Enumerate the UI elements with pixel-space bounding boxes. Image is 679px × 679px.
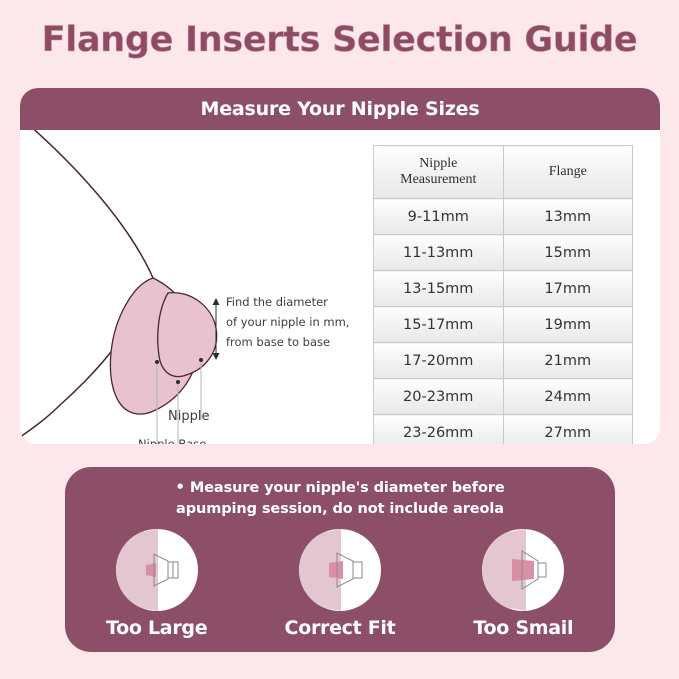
fit-note-line-1: Measure your nipple's diameter before [190, 480, 505, 496]
fit-note-line-2: apumping session, do not include areola [176, 501, 504, 517]
bullet-icon: • [175, 478, 185, 496]
fit-illustration-correct-fit [299, 529, 381, 611]
fit-illustration-too-small [482, 529, 564, 611]
flange-tunnel-correct [353, 562, 362, 578]
table-header-flange: Flange [503, 146, 633, 199]
instruction-line-3: from base to base [226, 335, 330, 349]
cell-flange: 19mm [503, 307, 633, 343]
cell-measurement: 20-23mm [374, 379, 504, 415]
table-row: 20-23mm 24mm [374, 379, 633, 415]
header-measurement-line2: Measurement [375, 172, 502, 188]
flange-tunnel-small [538, 563, 546, 577]
nipple-correct [329, 561, 343, 579]
fit-label-too-large: Too Large [82, 617, 232, 639]
cell-flange: 13mm [503, 199, 633, 235]
fit-note: • Measure your nipple's diameter before … [65, 477, 615, 520]
panel-header-label: Measure Your Nipple Sizes [201, 98, 480, 120]
page-title: Flange Inserts Selection Guide [0, 20, 679, 60]
table-row: 23-26mm 27mm [374, 415, 633, 445]
cell-measurement: 13-15mm [374, 271, 504, 307]
table-header-row: Nipple Measurement Flange [374, 146, 633, 199]
fit-comparison-card: • Measure your nipple's diameter before … [65, 467, 615, 652]
table-body: 9-11mm 13mm 11-13mm 15mm 13-15mm 17mm 15… [374, 199, 633, 445]
instruction-line-2: of your nipple in mm, [226, 315, 349, 329]
fit-item-too-large: Too Large [82, 529, 232, 639]
cell-measurement: 23-26mm [374, 415, 504, 445]
panel-header-bar: Measure Your Nipple Sizes [20, 88, 660, 130]
nipple-size-table: Nipple Measurement Flange 9-11mm 13mm 11… [373, 145, 633, 444]
fit-illustration-too-large [116, 529, 198, 611]
cell-flange: 21mm [503, 343, 633, 379]
table-header-measurement: Nipple Measurement [374, 146, 504, 199]
dimension-arrow-bottom [213, 353, 220, 360]
cell-flange: 24mm [503, 379, 633, 415]
panel-body: Find the diameter of your nipple in mm, … [20, 130, 660, 444]
nipple-shape [158, 293, 217, 377]
label-nipple: Nipple [168, 409, 209, 424]
cell-flange: 15mm [503, 235, 633, 271]
infographic-page: Flange Inserts Selection Guide Measure Y… [0, 0, 679, 679]
table-row: 9-11mm 13mm [374, 199, 633, 235]
table-row: 15-17mm 19mm [374, 307, 633, 343]
table-row: 13-15mm 17mm [374, 271, 633, 307]
cell-measurement: 9-11mm [374, 199, 504, 235]
fit-label-correct-fit: Correct Fit [265, 617, 415, 639]
nipple-small [512, 559, 534, 581]
fit-item-too-small: Too Smail [448, 529, 598, 639]
dimension-arrow-top [213, 298, 220, 305]
cell-measurement: 11-13mm [374, 235, 504, 271]
table-row: 17-20mm 21mm [374, 343, 633, 379]
header-measurement-line1: Nipple [375, 156, 502, 172]
fit-label-too-small: Too Smail [448, 617, 598, 639]
fit-item-correct-fit: Correct Fit [265, 529, 415, 639]
cell-measurement: 15-17mm [374, 307, 504, 343]
table-row: 11-13mm 15mm [374, 235, 633, 271]
label-nipple-base: Nipple Base [138, 437, 206, 444]
nipple-base-marker-dot [176, 380, 180, 384]
fit-items-row: Too Large Correct Fit [65, 529, 615, 649]
cell-measurement: 17-20mm [374, 343, 504, 379]
areola-marker-dot [155, 360, 159, 364]
measure-panel: Measure Your Nipple Sizes [20, 88, 660, 444]
cell-flange: 27mm [503, 415, 633, 445]
table-head: Nipple Measurement Flange [374, 146, 633, 199]
instruction-line-1: Find the diameter [226, 295, 328, 309]
cell-flange: 17mm [503, 271, 633, 307]
nipple-marker-dot [199, 358, 203, 362]
breast-anatomy-diagram: Find the diameter of your nipple in mm, … [20, 130, 370, 444]
